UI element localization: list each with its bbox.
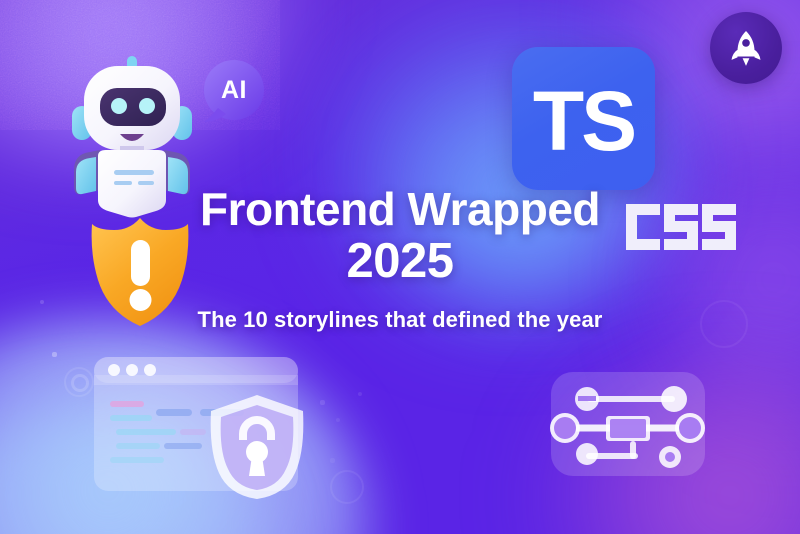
poster-text-block: Frontend Wrapped 2025 The 10 storylines … bbox=[0, 186, 800, 333]
page-title-year: 2025 bbox=[0, 233, 800, 291]
node-network-diagram bbox=[543, 368, 713, 480]
page-title: Frontend Wrapped bbox=[0, 186, 800, 233]
rocket-icon bbox=[729, 29, 763, 67]
ai-speech-bubble: AI bbox=[200, 58, 276, 134]
poster-canvas: AI bbox=[0, 0, 800, 534]
page-subtitle: The 10 storylines that defined the year bbox=[0, 307, 800, 333]
ai-bubble-label: AI bbox=[200, 58, 268, 122]
rocket-badge bbox=[710, 12, 782, 84]
lock-shield-icon bbox=[205, 392, 309, 502]
typescript-logo: TS bbox=[512, 47, 655, 190]
typescript-logo-label: TS bbox=[533, 79, 634, 163]
